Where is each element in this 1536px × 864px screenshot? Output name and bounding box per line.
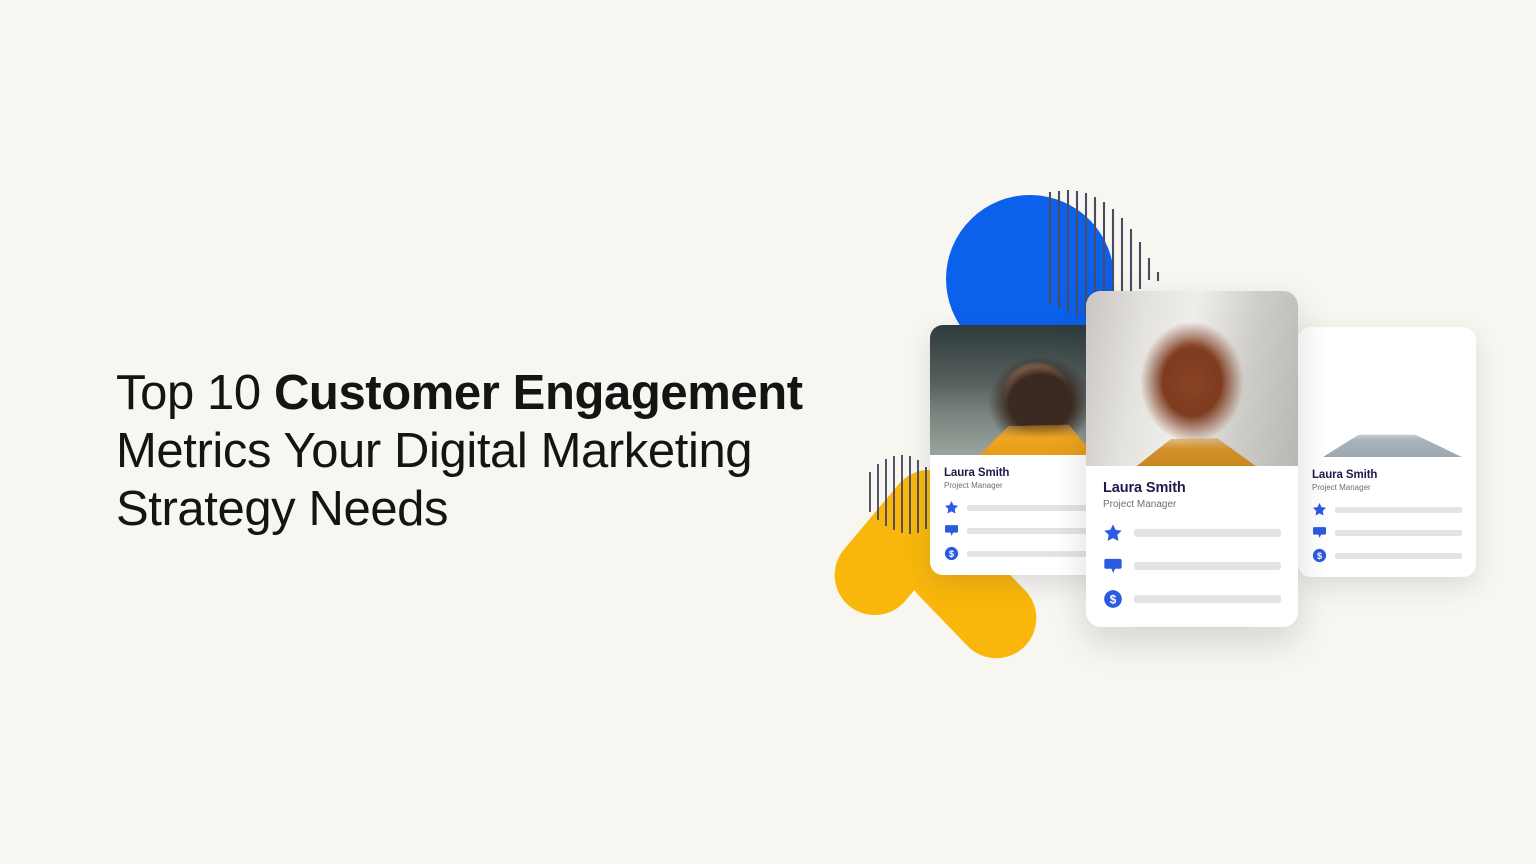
headline-line-1: Top 10 Customer Engagement: [116, 364, 896, 422]
metric-row-revenue: $: [1103, 589, 1281, 609]
profile-role: Project Manager: [1312, 483, 1462, 492]
headline-regular-part: Top 10: [116, 366, 274, 420]
speech-bubble-icon: [1312, 525, 1327, 540]
profile-card-left[interactable]: Laura Smith Project Manager: [930, 325, 1108, 575]
metric-track: [1335, 553, 1462, 559]
page-title: Top 10 Customer Engagement Metrics Your …: [116, 364, 896, 538]
profile-role: Project Manager: [944, 481, 1094, 490]
metric-track: [967, 551, 1094, 557]
star-icon: [1103, 523, 1123, 543]
svg-text:$: $: [949, 549, 954, 559]
metric-track: [967, 528, 1094, 534]
profile-card-body: Laura Smith Project Manager: [930, 455, 1108, 575]
metric-track: [1335, 507, 1462, 513]
metric-track: [1134, 562, 1281, 570]
stripe-fan-bottom-icon: [866, 450, 936, 540]
metric-track: [1335, 530, 1462, 536]
headline-bold-part: Customer Engagement: [274, 366, 803, 420]
profile-card-center[interactable]: Laura Smith Project Manager: [1086, 291, 1298, 627]
metric-row-messages: [1312, 525, 1462, 540]
profile-role: Project Manager: [1103, 499, 1281, 510]
metrics-list: $: [944, 500, 1094, 561]
dollar-coin-icon: $: [944, 546, 959, 561]
metric-row-rating: [944, 500, 1094, 515]
metric-row-messages: [1103, 556, 1281, 576]
speech-bubble-icon: [1103, 556, 1123, 576]
metric-row-rating: [1312, 502, 1462, 517]
profile-name: Laura Smith: [1312, 469, 1462, 481]
svg-text:$: $: [1110, 592, 1117, 606]
profile-photo: [1298, 327, 1476, 457]
illustration: Laura Smith Project Manager: [850, 150, 1510, 690]
star-icon: [1312, 502, 1327, 517]
dollar-coin-icon: $: [1312, 548, 1327, 563]
headline-line-3: Strategy Needs: [116, 480, 896, 538]
metric-track: [1134, 595, 1281, 603]
profile-photo: [1086, 291, 1298, 466]
profile-name: Laura Smith: [944, 467, 1094, 479]
dollar-coin-icon: $: [1103, 589, 1123, 609]
profile-card-right[interactable]: Laura Smith Project Manager: [1298, 327, 1476, 577]
profile-card-body: Laura Smith Project Manager: [1298, 457, 1476, 577]
star-icon: [944, 500, 959, 515]
profile-photo: [930, 325, 1108, 455]
metric-row-messages: [944, 523, 1094, 538]
headline: Top 10 Customer Engagement Metrics Your …: [116, 364, 896, 538]
profile-card-body: Laura Smith Project Manager: [1086, 466, 1298, 627]
metrics-list: $: [1103, 523, 1281, 609]
svg-text:$: $: [1317, 551, 1322, 561]
metric-track: [1134, 529, 1281, 537]
headline-line-2: Metrics Your Digital Marketing: [116, 422, 896, 480]
metric-row-rating: [1103, 523, 1281, 543]
metric-row-revenue: $: [944, 546, 1094, 561]
metric-track: [967, 505, 1094, 511]
metrics-list: $: [1312, 502, 1462, 563]
metric-row-revenue: $: [1312, 548, 1462, 563]
speech-bubble-icon: [944, 523, 959, 538]
profile-name: Laura Smith: [1103, 480, 1281, 496]
